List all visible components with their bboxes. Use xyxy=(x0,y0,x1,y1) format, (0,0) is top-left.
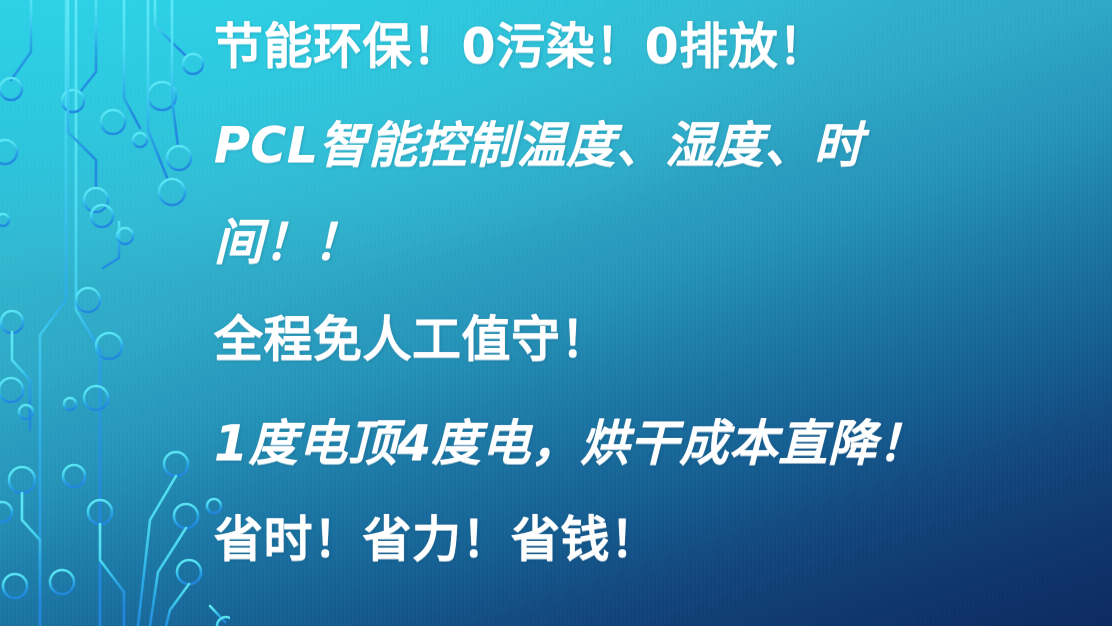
headline-line-3: 间！！ xyxy=(214,218,363,267)
circuit-board-decoration xyxy=(0,0,230,626)
headline-line-4: 全程免人工值守！ xyxy=(214,315,610,364)
circuit-traces-svg xyxy=(0,0,230,626)
headline-line-5: 1度电顶4度电，烘干成本直降！ xyxy=(214,419,927,468)
headline-line-2: PCL智能控制温度、湿度、时 xyxy=(214,121,863,170)
headline-line-1: 节能环保！0污染！0排放！ xyxy=(214,22,828,71)
promo-slide: 节能环保！0污染！0排放！ PCL智能控制温度、湿度、时 间！！ 全程免人工值守… xyxy=(0,0,1112,626)
headline-text-block: 节能环保！0污染！0排放！ PCL智能控制温度、湿度、时 间！！ 全程免人工值守… xyxy=(214,0,1104,626)
headline-line-6: 省时！省力！省钱！ xyxy=(214,515,660,564)
